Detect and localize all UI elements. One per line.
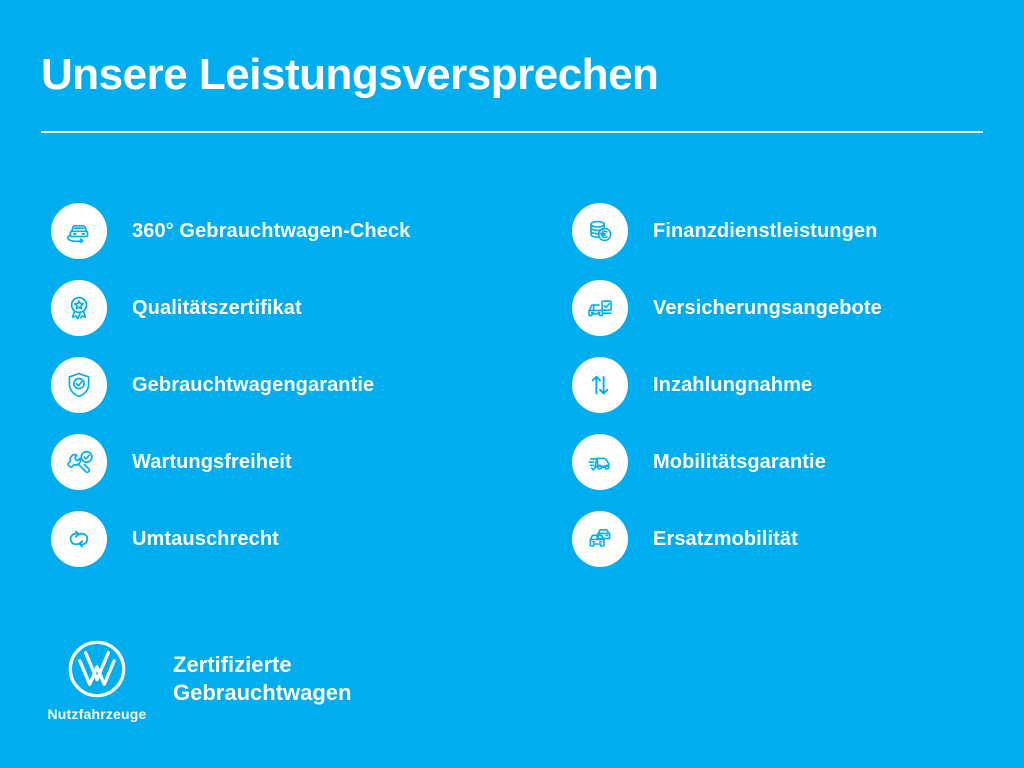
- brand-claim-line-1: Zertifizierte: [173, 651, 351, 679]
- two-cars-icon: [572, 511, 628, 567]
- promise-item-mobilitaetsgarantie[interactable]: Mobilitätsgarantie: [572, 434, 992, 490]
- van-motion-icon: [572, 434, 628, 490]
- arrows-up-down-icon: [572, 357, 628, 413]
- promise-label: Wartungsfreiheit: [132, 451, 292, 474]
- promise-item-umtauschrecht[interactable]: Umtauschrecht: [51, 511, 471, 567]
- wrench-check-icon: [51, 434, 107, 490]
- shield-check-icon: [51, 357, 107, 413]
- promise-label: Umtauschrecht: [132, 528, 279, 551]
- promise-label: Qualitätszertifikat: [132, 297, 302, 320]
- promise-label: Mobilitätsgarantie: [653, 451, 826, 474]
- title-divider: [41, 131, 983, 133]
- vw-submark-label: Nutzfahrzeuge: [47, 706, 146, 722]
- award-rosette-icon: [51, 280, 107, 336]
- promise-item-gebrauchtwagengarantie[interactable]: Gebrauchtwagengarantie: [51, 357, 471, 413]
- promise-label: Ersatzmobilität: [653, 528, 798, 551]
- page-title: Unsere Leistungsversprechen: [41, 52, 658, 98]
- exchange-arrows-icon: [51, 511, 107, 567]
- promise-item-inzahlungnahme[interactable]: Inzahlungnahme: [572, 357, 992, 413]
- promise-list-right: Finanzdienstleistungen Versicherungsange…: [572, 203, 992, 588]
- promise-label: Inzahlungnahme: [653, 374, 812, 397]
- promise-label: Versicherungsangebote: [653, 297, 882, 320]
- promise-item-versicherungsangebote[interactable]: Versicherungsangebote: [572, 280, 992, 336]
- promise-label: 360° Gebrauchtwagen-Check: [132, 220, 410, 243]
- promise-item-finanzdienstleistungen[interactable]: Finanzdienstleistungen: [572, 203, 992, 259]
- promise-item-wartungsfreiheit[interactable]: Wartungsfreiheit: [51, 434, 471, 490]
- promise-label: Finanzdienstleistungen: [653, 220, 877, 243]
- slide-canvas: Unsere Leistungsversprechen 360° Gebrauc…: [0, 0, 1024, 768]
- brand-lockup: Nutzfahrzeuge Zertifizierte Gebrauchtwag…: [41, 638, 351, 722]
- promise-item-gebrauchtwagen-check[interactable]: 360° Gebrauchtwagen-Check: [51, 203, 471, 259]
- promise-item-qualitaetszertifikat[interactable]: Qualitätszertifikat: [51, 280, 471, 336]
- promise-list-left: 360° Gebrauchtwagen-Check Qualitätszerti…: [51, 203, 471, 588]
- vw-brand-mark: Nutzfahrzeuge: [41, 638, 153, 722]
- car-checklist-icon: [572, 280, 628, 336]
- car-360-check-icon: [51, 203, 107, 259]
- coins-euro-icon: [572, 203, 628, 259]
- promise-label: Gebrauchtwagengarantie: [132, 374, 374, 397]
- brand-claim: Zertifizierte Gebrauchtwagen: [173, 651, 351, 706]
- vw-logo-icon: [66, 638, 128, 700]
- promise-item-ersatzmobilitaet[interactable]: Ersatzmobilität: [572, 511, 992, 567]
- brand-claim-line-2: Gebrauchtwagen: [173, 679, 351, 707]
